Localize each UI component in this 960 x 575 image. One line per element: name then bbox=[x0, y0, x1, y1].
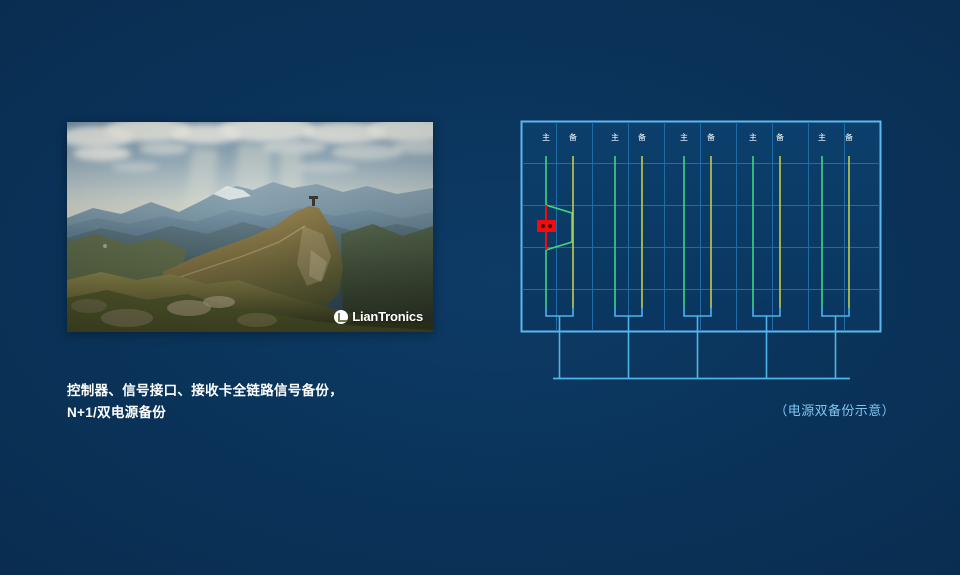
liantronics-wordmark: LianTronics bbox=[352, 309, 423, 324]
photo-terrain bbox=[67, 122, 433, 332]
left-caption: 控制器、信号接口、接收卡全链路信号备份， N+1/双电源备份 bbox=[67, 380, 407, 424]
left-caption-line-2: N+1/双电源备份 bbox=[67, 402, 407, 424]
diagram-canvas: 主 备 主 备 bbox=[520, 120, 882, 382]
page-root: LianTronics 控制器、信号接口、接收卡全链路信号备份， N+1/双电源… bbox=[0, 0, 960, 575]
column-3-backup-label: 备 bbox=[776, 132, 784, 142]
liantronics-logo-mark bbox=[334, 310, 348, 324]
power-dual-backup-diagram: 主 备 主 备 bbox=[520, 120, 882, 382]
mountain-landscape-photo: LianTronics bbox=[67, 122, 433, 332]
column-4-backup-label: 备 bbox=[845, 132, 853, 142]
column-0-primary-label: 主 bbox=[542, 132, 550, 142]
column-2-primary-label: 主 bbox=[680, 132, 688, 142]
column-1-backup-label: 备 bbox=[638, 132, 646, 142]
right-caption: （电源双备份示意） bbox=[700, 400, 895, 419]
power-fault-marker bbox=[537, 220, 556, 232]
column-2-backup-label: 备 bbox=[707, 132, 715, 142]
column-3-primary-label: 主 bbox=[749, 132, 757, 142]
column-0-backup-label: 备 bbox=[569, 132, 577, 142]
column-1-primary-label: 主 bbox=[611, 132, 619, 142]
column-4-primary-label: 主 bbox=[818, 132, 826, 142]
left-caption-line-1: 控制器、信号接口、接收卡全链路信号备份， bbox=[67, 380, 407, 402]
liantronics-logo: LianTronics bbox=[334, 309, 423, 324]
